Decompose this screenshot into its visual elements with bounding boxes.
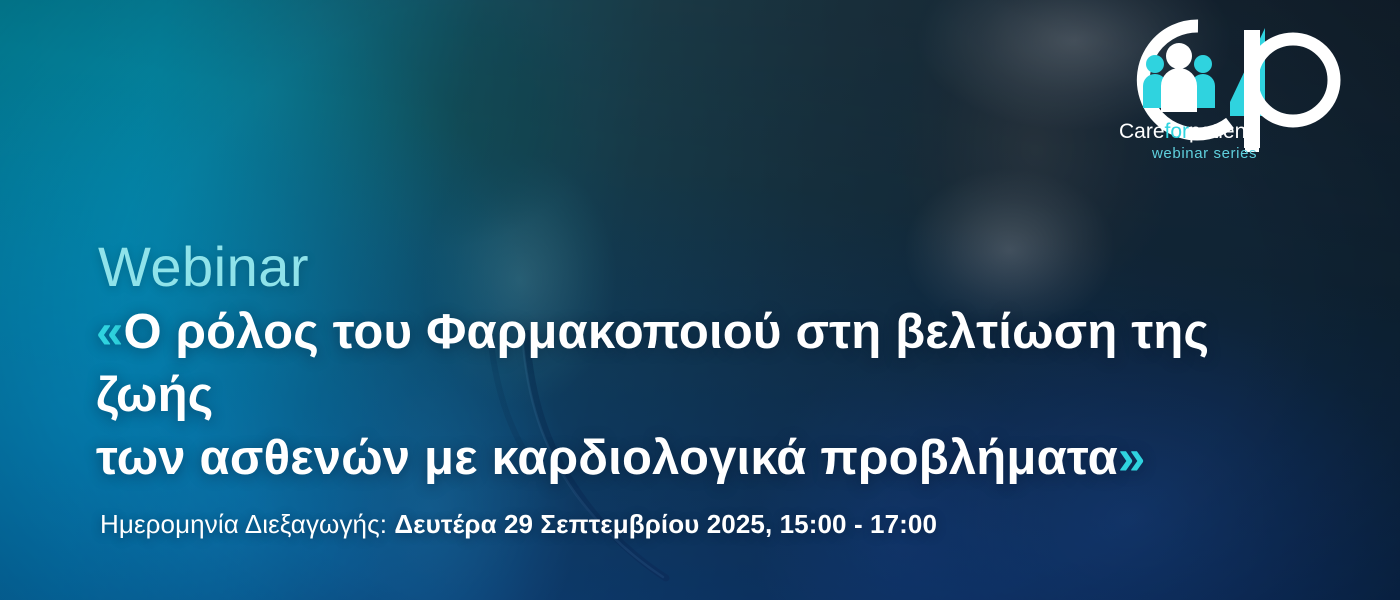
webinar-banner: Webinar «Ο ρόλος του Φαρμακοποιού στη βε… — [0, 0, 1400, 600]
logo-tagline: webinar series — [1151, 145, 1257, 162]
logo-wordmark-care: Careforpatient — [1119, 120, 1252, 143]
title-line-2: των ασθενών με καρδιολογικά προβλήματα — [96, 431, 1118, 485]
page-title: «Ο ρόλος του Φαρμακοποιού στη βελτίωση τ… — [96, 301, 1326, 489]
logo-wordmark-patient: patient — [1189, 120, 1252, 143]
date-label: Ημερομηνία Διεξαγωγής: — [100, 509, 387, 539]
careforpatient-logo[interactable]: Careforpatient webinar series — [1112, 12, 1352, 190]
logo-letter-p — [1245, 30, 1334, 152]
text-content: Webinar «Ο ρόλος του Φαρμακοποιού στη βε… — [96, 238, 1326, 540]
open-guillemet: « — [96, 305, 123, 359]
date-value: Δευτέρα 29 Σεπτεμβρίου 2025, 15:00 - 17:… — [394, 509, 937, 539]
title-line-1: Ο ρόλος του Φαρμακοποιού στη βελτίωση τη… — [96, 305, 1209, 422]
eyebrow-label: Webinar — [98, 238, 1326, 295]
logo-wordmark-for: for — [1165, 120, 1190, 143]
logo-c-ring — [1143, 26, 1230, 134]
close-guillemet: » — [1118, 431, 1145, 485]
event-date: Ημερομηνία Διεξαγωγής: Δευτέρα 29 Σεπτεμ… — [100, 509, 1326, 540]
